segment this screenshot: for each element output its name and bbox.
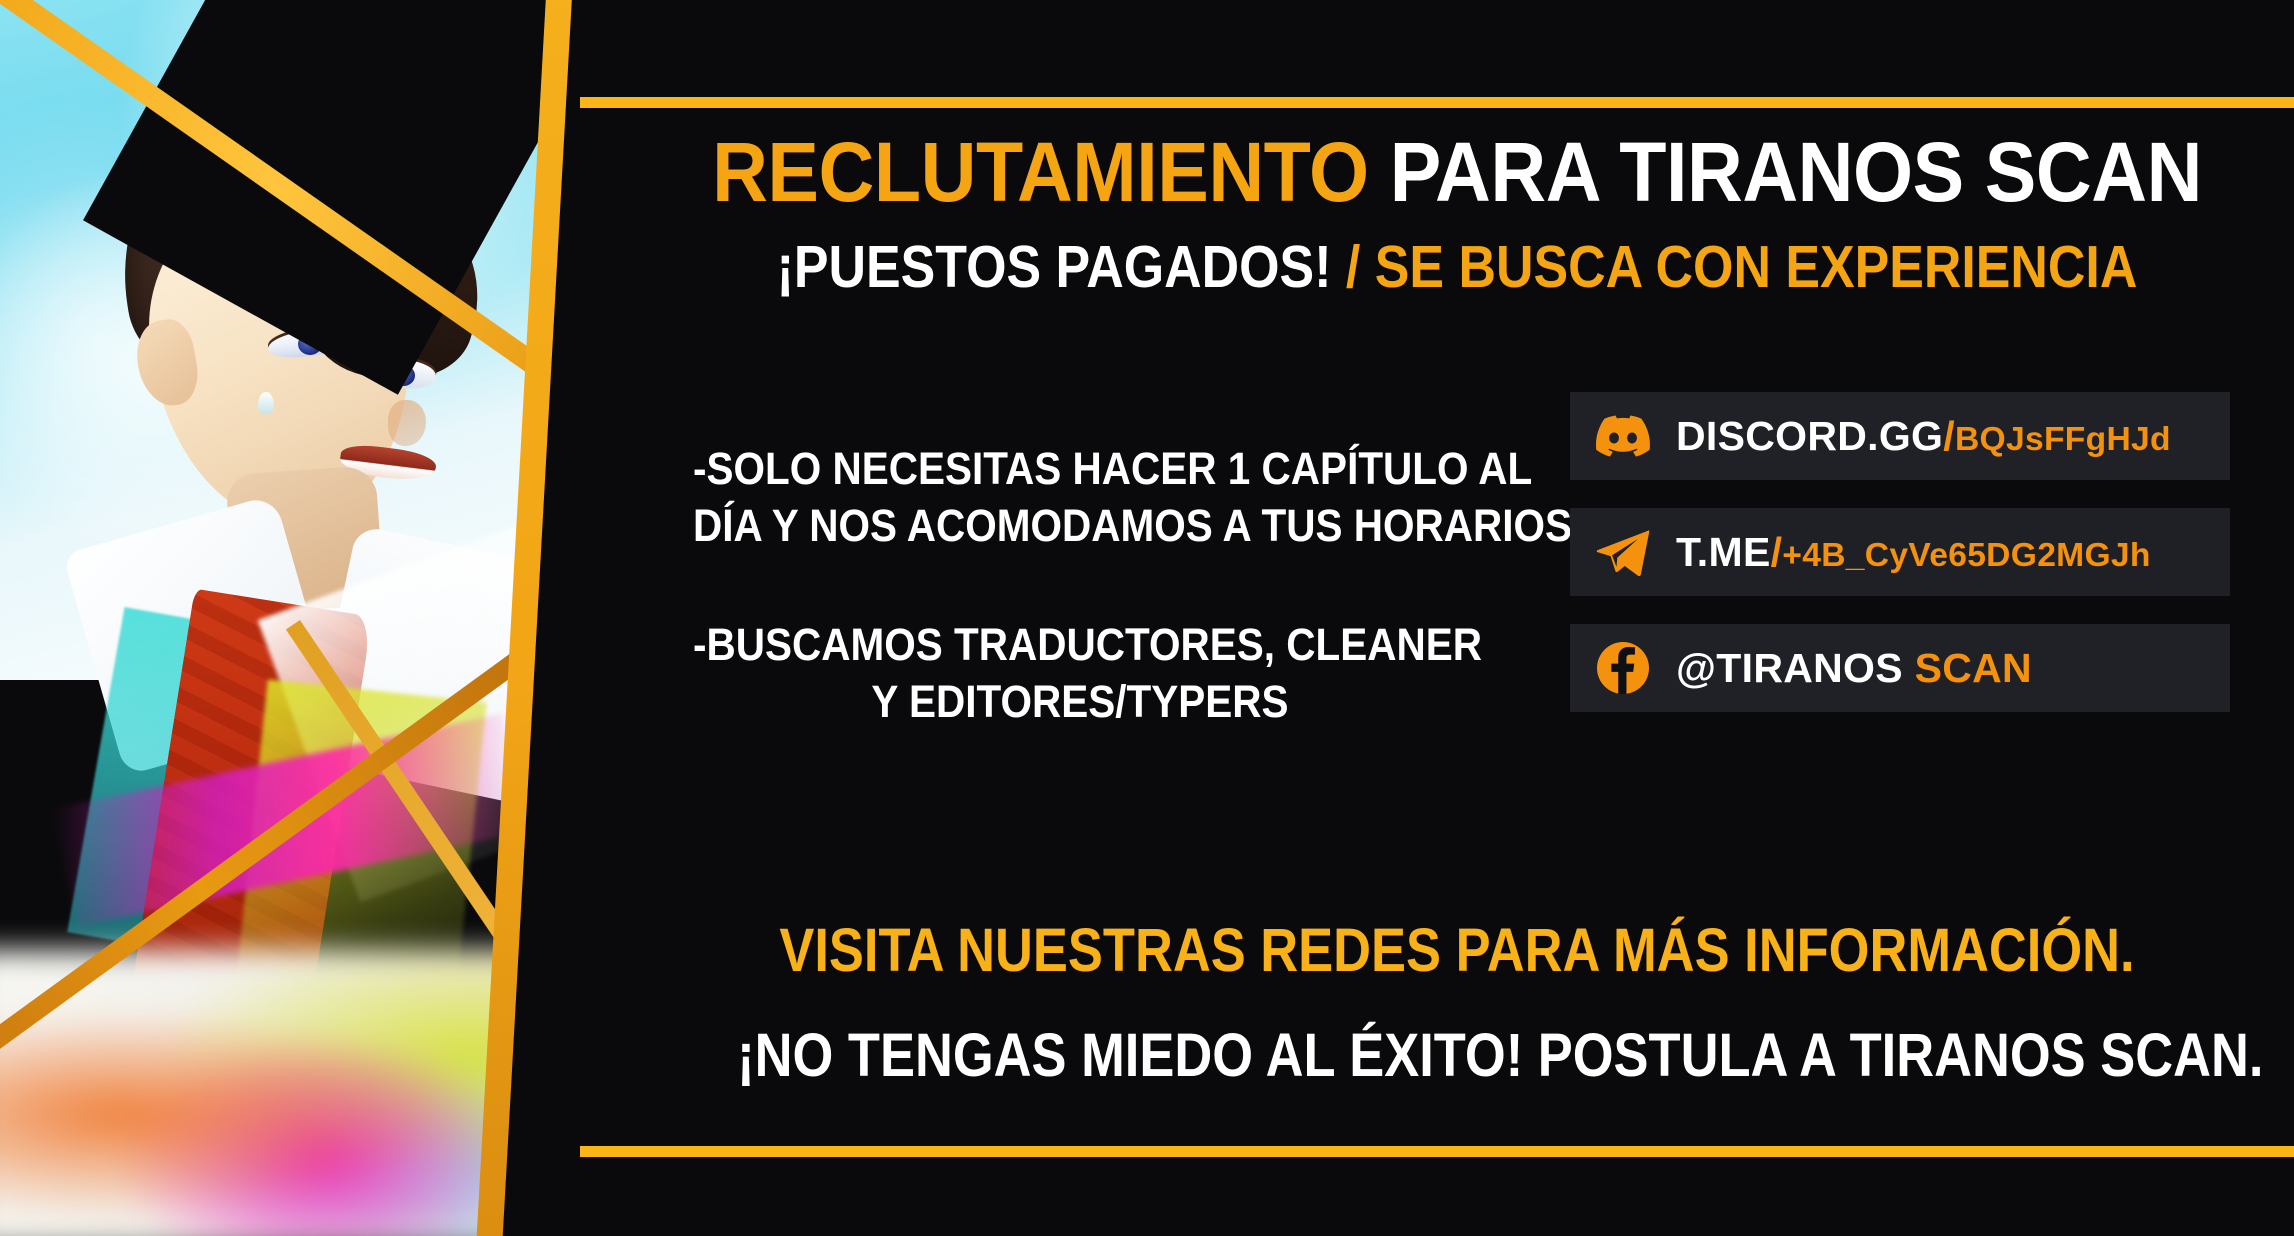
facebook-separator bbox=[1903, 645, 1915, 691]
recruitment-banner: RECLUTAMIENTO PARA TIRANOS SCAN ¡PUESTOS… bbox=[0, 0, 2294, 1236]
bullet-2-line-2: Y EDITORES/TYPERS bbox=[693, 673, 1467, 730]
contact-text-telegram: T.ME/+4B_CyVe65DG2MGJh bbox=[1676, 529, 2151, 576]
gold-rule-top bbox=[580, 97, 2294, 108]
discord-icon bbox=[1596, 409, 1650, 463]
gold-rule-bottom bbox=[580, 1146, 2294, 1157]
cta-line-2: ¡NO TENGAS MIEDO AL ÉXITO! POSTULA A TIR… bbox=[737, 1025, 2177, 1086]
call-to-action: VISITA NUESTRAS REDES PARA MÁS INFORMACI… bbox=[620, 920, 2294, 1086]
facebook-icon bbox=[1596, 641, 1650, 695]
contact-card-discord[interactable]: DISCORD.GG/BQJsFFgHJd bbox=[1570, 392, 2230, 480]
facebook-handle-prefix: @TIRANOS bbox=[1676, 645, 1903, 691]
subtitle-paid-positions: ¡PUESTOS PAGADOS! bbox=[777, 234, 1346, 300]
bullet-1-line-1: -SOLO NECESITAS HACER 1 CAPÍTULO AL bbox=[693, 440, 1467, 497]
requirements-list: -SOLO NECESITAS HACER 1 CAPÍTULO AL DÍA … bbox=[650, 440, 1510, 793]
list-item: -SOLO NECESITAS HACER 1 CAPÍTULO AL DÍA … bbox=[650, 440, 1510, 554]
page-subtitle: ¡PUESTOS PAGADOS! / SE BUSCA CON EXPERIE… bbox=[720, 238, 2193, 297]
contact-card-facebook[interactable]: @TIRANOS SCAN bbox=[1570, 624, 2230, 712]
contact-text-discord: DISCORD.GG/BQJsFFgHJd bbox=[1676, 413, 2171, 460]
sweat-drop bbox=[258, 392, 274, 414]
discord-invite-code: BQJsFFgHJd bbox=[1955, 421, 2171, 458]
discord-separator: / bbox=[1943, 413, 1955, 459]
telegram-domain: T.ME bbox=[1676, 529, 1771, 575]
discord-domain: DISCORD.GG bbox=[1676, 413, 1943, 459]
headline-highlight: RECLUTAMIENTO bbox=[712, 125, 1369, 219]
contact-text-facebook: @TIRANOS SCAN bbox=[1676, 645, 2032, 692]
bullet-2-line-1: -BUSCAMOS TRADUCTORES, CLEANER bbox=[693, 616, 1467, 673]
contact-links: DISCORD.GG/BQJsFFgHJd T.ME/+4B_CyVe65DG2… bbox=[1570, 392, 2230, 740]
facebook-handle-suffix: SCAN bbox=[1915, 645, 2032, 691]
subtitle-experience: / SE BUSCA CON EXPERIENCIA bbox=[1346, 234, 2137, 300]
cta-line-1: VISITA NUESTRAS REDES PARA MÁS INFORMACI… bbox=[737, 920, 2177, 981]
contact-card-telegram[interactable]: T.ME/+4B_CyVe65DG2MGJh bbox=[1570, 508, 2230, 596]
telegram-separator: / bbox=[1771, 529, 1783, 575]
list-item: -BUSCAMOS TRADUCTORES, CLEANER Y EDITORE… bbox=[650, 616, 1510, 730]
page-title: RECLUTAMIENTO PARA TIRANOS SCAN bbox=[687, 130, 2227, 214]
telegram-icon bbox=[1596, 525, 1650, 579]
headline-rest: PARA TIRANOS SCAN bbox=[1369, 125, 2202, 219]
content-panel: RECLUTAMIENTO PARA TIRANOS SCAN ¡PUESTOS… bbox=[620, 0, 2294, 1236]
telegram-invite-code: +4B_CyVe65DG2MGJh bbox=[1782, 537, 2150, 574]
bullet-1-line-2: DÍA Y NOS ACOMODAMOS A TUS HORARIOS bbox=[693, 497, 1467, 554]
